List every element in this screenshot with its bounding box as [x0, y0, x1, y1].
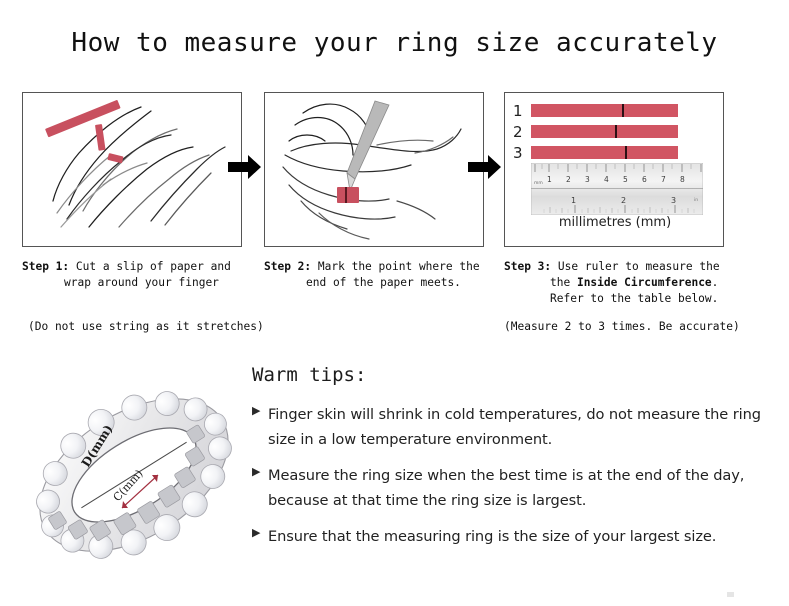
- step-1-line1: Cut a slip of paper and: [76, 260, 231, 273]
- step-2-column: Step 2: Mark the point where the end of …: [264, 92, 486, 291]
- step-1-illustration-panel: [22, 92, 242, 247]
- svg-text:2: 2: [566, 175, 571, 184]
- paper-strip-3: [531, 146, 678, 159]
- warm-tip-item: ▶ Measure the ring size when the best ti…: [252, 463, 772, 513]
- step-2-line2: end of the paper meets.: [264, 275, 486, 291]
- step-3-line2-pre: the: [550, 276, 577, 289]
- step-3-caption: Step 3: Use ruler to measure the the Ins…: [504, 259, 726, 307]
- bullet-triangle-icon: ▶: [252, 402, 268, 416]
- svg-text:7: 7: [661, 175, 666, 184]
- svg-text:6: 6: [642, 175, 647, 184]
- svg-text:1: 1: [547, 175, 552, 184]
- svg-text:4: 4: [604, 175, 609, 184]
- svg-text:3: 3: [671, 196, 676, 205]
- svg-text:8: 8: [680, 175, 685, 184]
- hand-marking-paper-icon: [265, 93, 484, 247]
- step-3-line3: Refer to the table below.: [504, 291, 726, 307]
- step-3-line2-post: .: [712, 276, 719, 289]
- step-3-illustration-panel: 1 2 3: [504, 92, 724, 247]
- step-2-line1: Mark the point where the: [318, 260, 480, 273]
- paper-strip-1: [531, 104, 678, 117]
- strip-mark-3: [625, 146, 627, 159]
- warm-tip-text-1: Finger skin will shrink in cold temperat…: [268, 402, 772, 452]
- step-2-label: Step 2:: [264, 260, 311, 273]
- steps-row: Step 1: Cut a slip of paper and wrap aro…: [0, 92, 789, 342]
- paper-slip-shape: [45, 100, 124, 164]
- step-1-column: Step 1: Cut a slip of paper and wrap aro…: [22, 92, 244, 291]
- paper-slip-mark-shape: [337, 187, 359, 203]
- step-3-column: 1 2 3: [504, 92, 726, 307]
- warm-tip-item: ▶ Finger skin will shrink in cold temper…: [252, 402, 772, 452]
- step-3-inside-circumference-emphasis: Inside Circumference: [577, 276, 712, 289]
- step-1-line2: wrap around your finger: [22, 275, 244, 291]
- ruler-unit-caption: millimetres (mm): [505, 215, 724, 230]
- step-2-caption: Step 2: Mark the point where the end of …: [264, 259, 486, 291]
- warm-tip-text-3: Ensure that the measuring ring is the si…: [268, 524, 772, 549]
- page-title: How to measure your ring size accurately: [0, 28, 789, 58]
- svg-text:in: in: [694, 197, 698, 203]
- step-1-caption: Step 1: Cut a slip of paper and wrap aro…: [22, 259, 244, 291]
- bullet-triangle-icon: ▶: [252, 524, 268, 538]
- warm-tips-heading: Warm tips:: [252, 364, 772, 386]
- step-3-line1: Use ruler to measure the: [558, 260, 720, 273]
- step-1-note: (Do not use string as it stretches): [28, 320, 264, 333]
- svg-text:3: 3: [585, 175, 590, 184]
- pen-shape: [347, 101, 389, 191]
- warm-tips-section: Warm tips: ▶ Finger skin will shrink in …: [252, 364, 772, 560]
- strip-mark-1: [622, 104, 624, 117]
- lower-section: D(mm) C(mm) Warm tips: ▶ Finger skin wil…: [0, 348, 789, 606]
- hand-with-paper-slip-icon: [23, 93, 242, 247]
- arrow-step1-to-step2-icon: [228, 152, 262, 182]
- paper-strip-2: [531, 125, 678, 138]
- warm-tip-item: ▶ Ensure that the measuring ring is the …: [252, 524, 772, 549]
- svg-text:mm: mm: [534, 181, 543, 186]
- corner-artifact: [727, 592, 734, 597]
- svg-text:1: 1: [571, 196, 576, 205]
- svg-text:2: 2: [621, 196, 626, 205]
- warm-tip-text-2: Measure the ring size when the best time…: [268, 463, 772, 513]
- measured-strip-row-1: 1: [513, 103, 678, 118]
- strip-mark-2: [615, 125, 617, 138]
- strip-number-3: 3: [513, 144, 531, 162]
- step-3-note: (Measure 2 to 3 times. Be accurate): [504, 320, 740, 333]
- step-2-illustration-panel: [264, 92, 484, 247]
- strip-number-2: 2: [513, 123, 531, 141]
- svg-text:5: 5: [623, 175, 628, 184]
- measured-strip-row-3: 3: [513, 145, 678, 160]
- arrow-step2-to-step3-icon: [468, 152, 502, 182]
- ring-diagram-figure: D(mm) C(mm): [18, 356, 250, 594]
- strip-number-1: 1: [513, 102, 531, 120]
- ruler-illustration: 1 2 3 4 5 6 7 8 mm: [531, 163, 703, 215]
- eternity-ring-image: D(mm) C(mm): [18, 356, 250, 594]
- bullet-triangle-icon: ▶: [252, 463, 268, 477]
- step-3-label: Step 3:: [504, 260, 551, 273]
- step-1-label: Step 1:: [22, 260, 69, 273]
- measured-strip-row-2: 2: [513, 124, 678, 139]
